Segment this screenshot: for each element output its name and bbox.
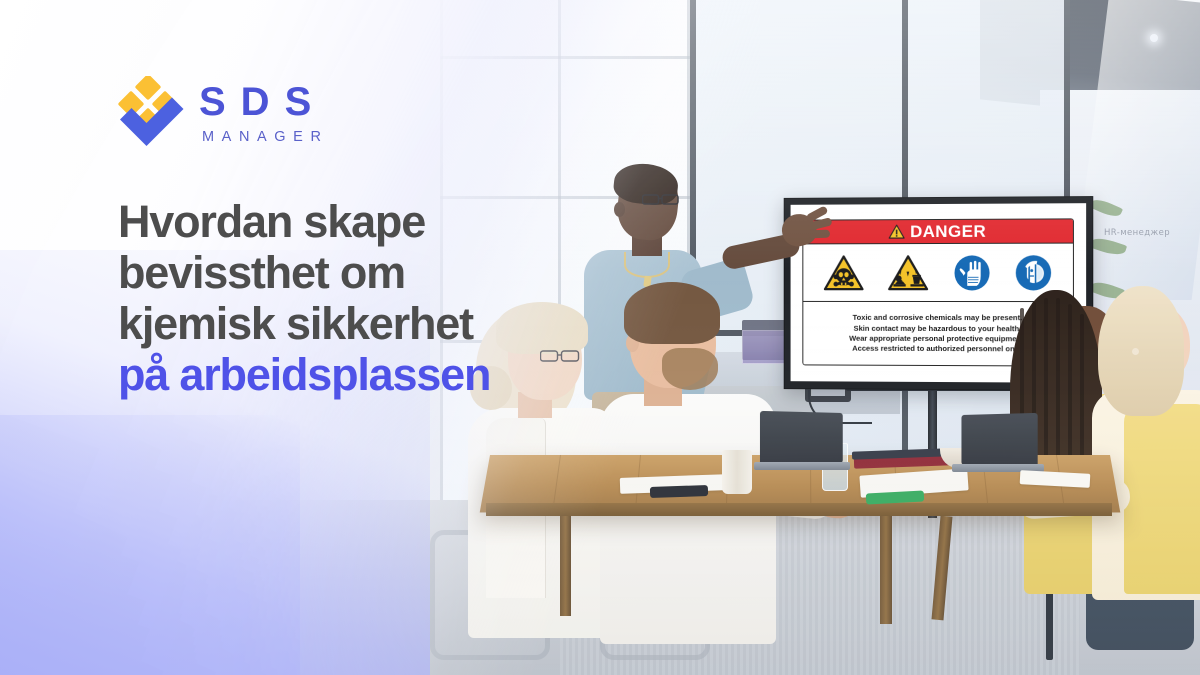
headline-line-1: Hvordan skape bbox=[118, 196, 558, 247]
laptop-base bbox=[754, 462, 850, 470]
danger-header-bar: DANGER bbox=[803, 219, 1073, 244]
headline-line-3: kjemisk sikkerhet bbox=[118, 298, 558, 349]
poster-canvas: HR-менеджер DANGER bbox=[0, 0, 1200, 675]
warning-triangle-icon bbox=[888, 224, 905, 239]
wear-face-shield-pictogram bbox=[1015, 253, 1053, 291]
sds-diamond-checkmark-logo-icon bbox=[113, 76, 185, 150]
brand-name-primary: SDS bbox=[199, 82, 329, 122]
headline-line-4-accent: på arbeidsplassen bbox=[118, 349, 558, 400]
danger-body-line: Toxic and corrosive chemicals may be pre… bbox=[853, 313, 1023, 324]
wall-role-label: HR-менеджер bbox=[1104, 228, 1170, 238]
danger-body-line: Skin contact may be hazardous to your he… bbox=[854, 323, 1022, 334]
corrosive-pictogram bbox=[887, 254, 929, 292]
danger-label: DANGER bbox=[910, 223, 986, 240]
laptop-screen bbox=[760, 411, 843, 465]
danger-body-line: Access restricted to authorized personne… bbox=[852, 344, 1023, 355]
headline: Hvordan skape bevissthet om kjemisk sikk… bbox=[118, 196, 558, 400]
brand-logo-lockup[interactable]: SDS MANAGER bbox=[113, 76, 329, 150]
brand-wordmark: SDS MANAGER bbox=[199, 82, 329, 145]
brand-name-secondary: MANAGER bbox=[202, 130, 329, 145]
danger-body-line: Wear appropriate personal protective equ… bbox=[849, 334, 1026, 345]
headline-line-2: bevissthet om bbox=[118, 247, 558, 298]
wear-protective-gloves-pictogram bbox=[953, 253, 991, 291]
table-leg bbox=[880, 516, 892, 624]
laptop-screen bbox=[961, 413, 1037, 467]
brand-content: SDS MANAGER Hvordan skape bevissthet om … bbox=[0, 0, 760, 675]
